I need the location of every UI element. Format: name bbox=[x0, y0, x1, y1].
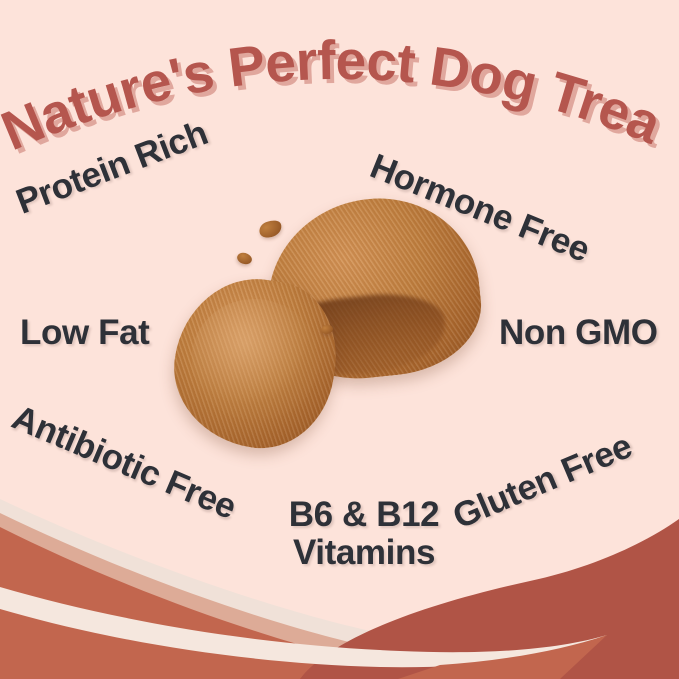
page-title-main-text: Nature's Perfect Dog Treat bbox=[0, 0, 670, 162]
feature-label-non-gmo: Non GMO bbox=[499, 314, 658, 352]
treat-crumb bbox=[236, 251, 253, 266]
treat-crumb bbox=[257, 217, 284, 240]
poster-canvas: Nature's Perfect Dog Treat Nature's Perf… bbox=[0, 0, 679, 679]
feature-label-low-fat: Low Fat bbox=[20, 314, 149, 352]
product-image-dog-treat bbox=[175, 195, 490, 480]
page-title-shadow-text: Nature's Perfect Dog Treat bbox=[0, 0, 674, 166]
page-title-shadow: Nature's Perfect Dog Treat bbox=[0, 0, 674, 166]
decorative-swoosh bbox=[0, 469, 679, 679]
page-title-main: Nature's Perfect Dog Treat bbox=[0, 0, 670, 162]
